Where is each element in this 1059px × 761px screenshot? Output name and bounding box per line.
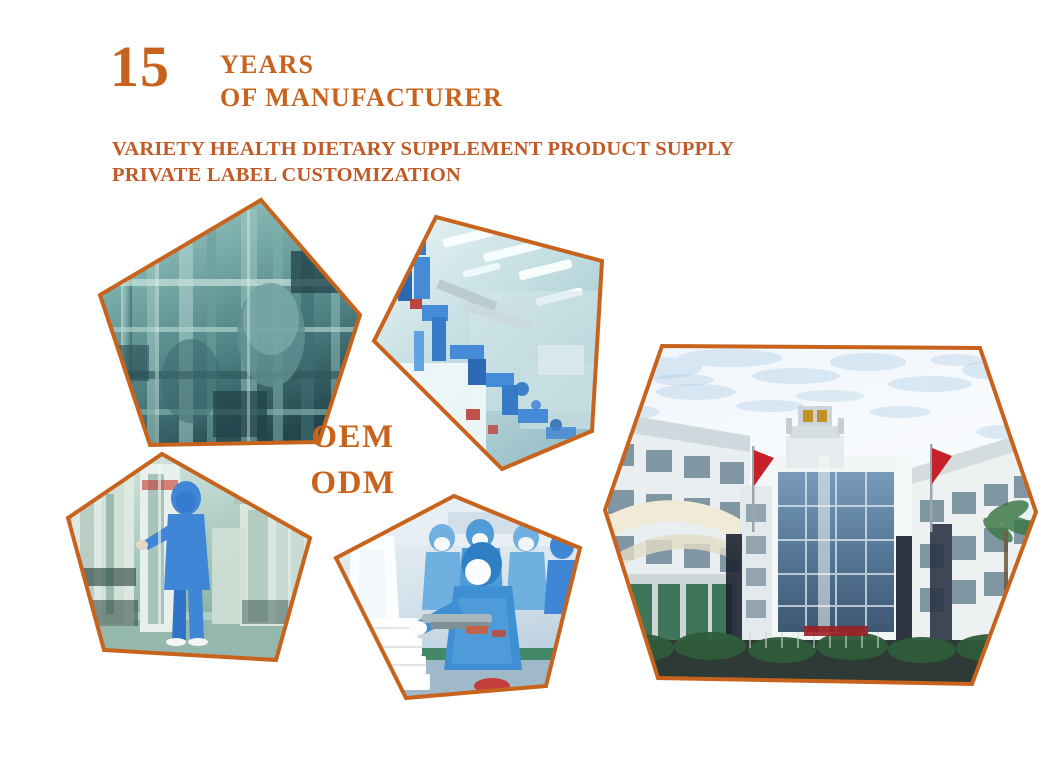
oem-label: OEM bbox=[283, 415, 423, 461]
header-block: 15 YEARS OF MANUFACTURER VARIETY HEALTH … bbox=[0, 0, 1059, 200]
oem-odm-badge: OEM ODM bbox=[283, 415, 423, 506]
panel-building-graphic bbox=[600, 340, 1040, 695]
headline-stack: YEARS OF MANUFACTURER bbox=[220, 48, 503, 115]
headline-line-years: YEARS bbox=[220, 48, 503, 81]
subtitle-line-private-label: PRIVATE LABEL CUSTOMIZATION bbox=[112, 162, 734, 188]
subtitle-stack: VARIETY HEALTH DIETARY SUPPLEMENT PRODUC… bbox=[112, 136, 734, 188]
photo-collage bbox=[0, 195, 1059, 715]
headline-line-of-manufacturer: OF MANUFACTURER bbox=[220, 81, 503, 114]
collage-panel-building bbox=[600, 340, 1040, 695]
subtitle-line-supply: VARIETY HEALTH DIETARY SUPPLEMENT PRODUC… bbox=[112, 136, 734, 162]
years-number: 15 bbox=[110, 38, 170, 96]
panel-packing-graphic bbox=[330, 490, 590, 710]
odm-label: ODM bbox=[283, 461, 423, 507]
collage-panel-packing bbox=[330, 490, 590, 710]
